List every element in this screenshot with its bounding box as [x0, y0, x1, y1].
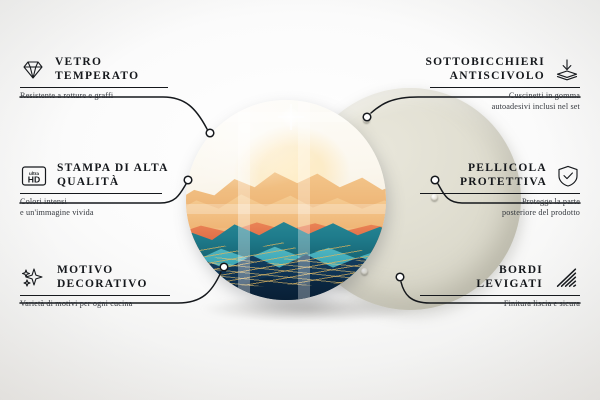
- arrow-down-onto-pad-icon: [554, 58, 580, 82]
- shield-check-icon: [556, 164, 580, 188]
- feature-divider-rule: [420, 193, 580, 194]
- feature-pellicola-protettiva: PELLICOLA PROTETTIVA Protegge la parte p…: [420, 162, 580, 219]
- feature-title-line-2: DECORATIVO: [57, 278, 148, 292]
- feature-subtitle-line-2: e un'immagine vivida: [20, 208, 180, 219]
- feature-divider-rule: [420, 295, 580, 296]
- infographic-canvas: VETRO TEMPERATO Resistente a rotture e g…: [0, 0, 600, 400]
- feature-divider-rule: [20, 295, 170, 296]
- feature-divider-rule: [20, 87, 168, 88]
- diamond-icon: [20, 58, 46, 82]
- feature-header: SOTTOBICCHIERI ANTISCIVOLO: [430, 56, 580, 83]
- ultra-hd-badge-icon: ultra HD: [20, 164, 48, 188]
- feature-subtitle-line-1: Resistente a rotture e graffi: [20, 91, 170, 102]
- connector-marker-sottobicchieri: [363, 113, 371, 121]
- feature-sottobicchieri-antiscivolo: SOTTOBICCHIERI ANTISCIVOLO Cuscinetti in…: [430, 56, 580, 113]
- feature-divider-rule: [430, 87, 580, 88]
- feature-title-line-1: MOTIVO: [57, 264, 148, 278]
- feature-header: VETRO TEMPERATO: [20, 56, 170, 83]
- feature-title-group: STAMPA DI ALTA QUALITÀ: [57, 162, 169, 189]
- connector-marker-vetro-temperato: [206, 129, 214, 137]
- feature-title-group: PELLICOLA PROTETTIVA: [420, 162, 547, 189]
- feature-motivo-decorativo: MOTIVO DECORATIVO Varietà di motivi per …: [20, 264, 180, 310]
- feature-title-line-1: PELLICOLA: [420, 162, 547, 176]
- svg-text:HD: HD: [28, 174, 40, 184]
- feature-header: BORDI LEVIGATI: [420, 264, 580, 291]
- connector-marker-bordi: [396, 273, 404, 281]
- sparkles-icon: [20, 266, 48, 290]
- feature-title-group: VETRO TEMPERATO: [55, 56, 139, 83]
- feature-subtitle-line-2: posteriore del prodotto: [420, 208, 580, 219]
- feature-title-line-2: PROTETTIVA: [420, 176, 547, 190]
- feature-subtitle-line-1: Varietà di motivi per ogni cucina: [20, 299, 180, 310]
- feature-title-line-1: BORDI: [420, 264, 543, 278]
- feature-subtitle-line-1: Colori intensi: [20, 197, 180, 208]
- feature-title-group: SOTTOBICCHIERI ANTISCIVOLO: [425, 56, 545, 83]
- connector-marker-stampa: [184, 176, 192, 184]
- feature-title-line-2: ANTISCIVOLO: [425, 70, 545, 84]
- feature-header: ultra HD STAMPA DI ALTA QUALITÀ: [20, 162, 180, 189]
- feature-title-line-1: VETRO: [55, 56, 139, 70]
- feature-header: MOTIVO DECORATIVO: [20, 264, 180, 291]
- feature-title-group: BORDI LEVIGATI: [420, 264, 543, 291]
- feature-subtitle-line-1: Protegge la parte: [420, 197, 580, 208]
- feature-title-group: MOTIVO DECORATIVO: [57, 264, 148, 291]
- feature-vetro-temperato: VETRO TEMPERATO Resistente a rotture e g…: [20, 56, 170, 102]
- feature-title-line-2: LEVIGATI: [420, 278, 543, 292]
- feature-subtitle-line-1: Finitura liscia e sicura: [420, 299, 580, 310]
- feature-subtitle-line-2: autoadesivi inclusi nel set: [430, 102, 580, 113]
- feature-title-line-1: STAMPA DI ALTA: [57, 162, 169, 176]
- feature-title-line-2: TEMPERATO: [55, 70, 139, 84]
- feature-divider-rule: [20, 193, 162, 194]
- feature-header: PELLICOLA PROTETTIVA: [420, 162, 580, 189]
- feature-title-line-1: SOTTOBICCHIERI: [425, 56, 545, 70]
- connector-marker-motivo: [220, 263, 228, 271]
- feature-stampa-alta-qualita: ultra HD STAMPA DI ALTA QUALITÀ Colori i…: [20, 162, 180, 219]
- feature-bordi-levigati: BORDI LEVIGATI Finitura liscia e sicura: [420, 264, 580, 310]
- polished-edge-lines-icon: [552, 266, 580, 290]
- feature-subtitle-line-1: Cuscinetti in gomma: [430, 91, 580, 102]
- feature-title-line-2: QUALITÀ: [57, 176, 169, 190]
